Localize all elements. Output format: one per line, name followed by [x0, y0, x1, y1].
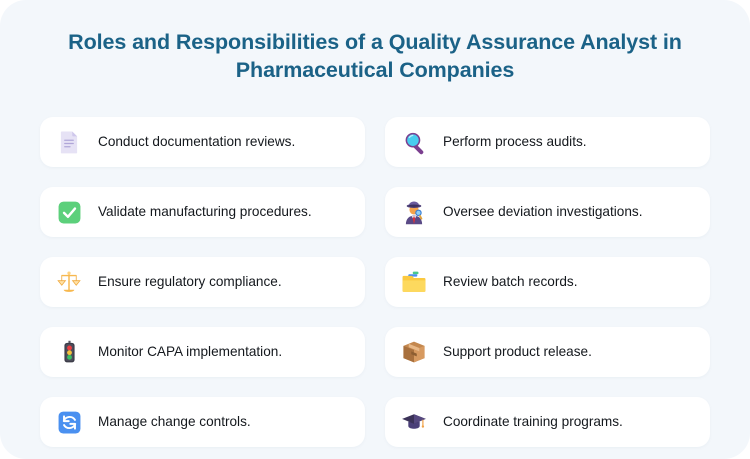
list-item-label: Conduct documentation reviews. [98, 134, 295, 150]
list-item[interactable]: Oversee deviation investigations. [385, 187, 710, 237]
list-item-label: Oversee deviation investigations. [443, 204, 643, 220]
list-item-label: Perform process audits. [443, 134, 587, 150]
list-item-label: Coordinate training programs. [443, 414, 623, 430]
page-title: Roles and Responsibilities of a Quality … [0, 0, 750, 85]
magnifying-glass-icon [399, 127, 429, 157]
balance-scales-icon [54, 267, 84, 297]
list-item[interactable]: Conduct documentation reviews. [40, 117, 365, 167]
list-item[interactable]: Monitor CAPA implementation. [40, 327, 365, 377]
package-box-icon [399, 337, 429, 367]
document-page-icon [54, 127, 84, 157]
infographic-container: Roles and Responsibilities of a Quality … [0, 0, 750, 459]
card-index-dividers-icon [399, 267, 429, 297]
traffic-light-icon [54, 337, 84, 367]
graduation-cap-icon [399, 407, 429, 437]
list-item[interactable]: Coordinate training programs. [385, 397, 710, 447]
list-item-label: Review batch records. [443, 274, 577, 290]
list-item-label: Ensure regulatory compliance. [98, 274, 282, 290]
green-check-mark-icon [54, 197, 84, 227]
list-item[interactable]: Review batch records. [385, 257, 710, 307]
list-item[interactable]: Ensure regulatory compliance. [40, 257, 365, 307]
list-item-label: Manage change controls. [98, 414, 251, 430]
list-item[interactable]: Manage change controls. [40, 397, 365, 447]
list-item-label: Monitor CAPA implementation. [98, 344, 282, 360]
list-item[interactable]: Support product release. [385, 327, 710, 377]
list-item[interactable]: Perform process audits. [385, 117, 710, 167]
refresh-arrows-icon [54, 407, 84, 437]
list-item-label: Validate manufacturing procedures. [98, 204, 312, 220]
list-item[interactable]: Validate manufacturing procedures. [40, 187, 365, 237]
responsibilities-grid: Conduct documentation reviews. Perform p… [40, 117, 710, 447]
detective-icon [399, 197, 429, 227]
list-item-label: Support product release. [443, 344, 592, 360]
